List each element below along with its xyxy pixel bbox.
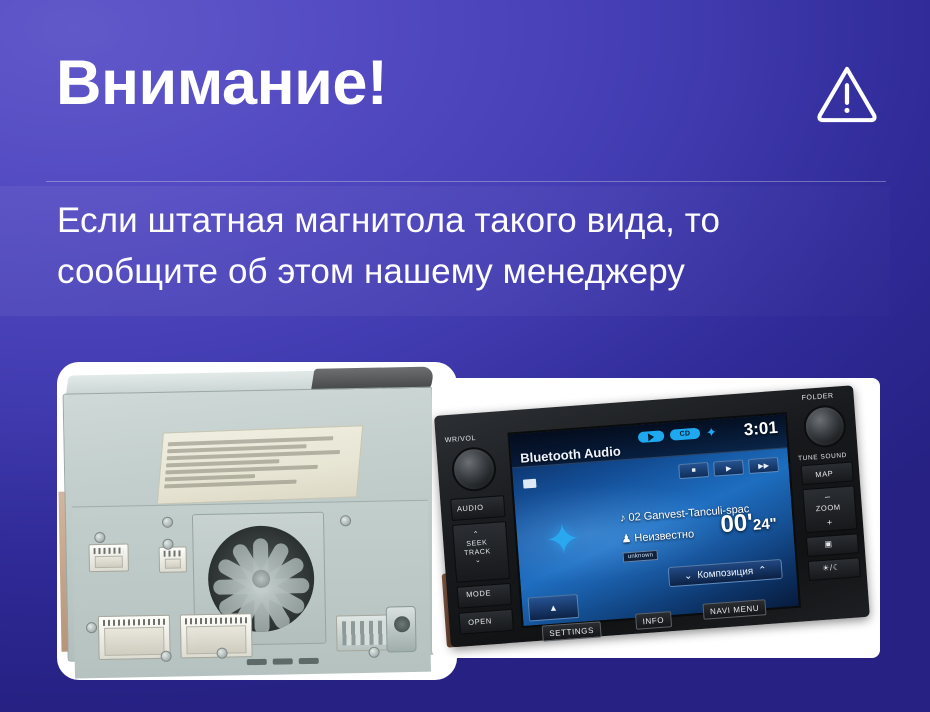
photo-row: WR/VOL AUDIO ⌃ SEEK TRACK ⌄ MODE — [0, 330, 930, 712]
vent-slot — [273, 658, 293, 664]
clock-time: 3:01 — [743, 418, 778, 440]
bluetooth-icon: ✦ — [705, 424, 717, 441]
zoom-minus-label: – — [825, 491, 831, 501]
chevron-up-icon: ⌃ — [758, 565, 767, 577]
composition-label: Композиция — [697, 566, 754, 581]
stop-button[interactable]: ■ — [678, 462, 709, 479]
warning-banner: Внимание! Если штатная магнитола такого … — [0, 0, 930, 712]
folder-icon — [523, 479, 537, 489]
vent-slot — [247, 659, 267, 665]
folder-label: FOLDER — [801, 393, 833, 402]
chevron-down-icon: ⌄ — [684, 570, 693, 582]
power-volume-knob[interactable] — [450, 446, 497, 493]
subtitle-text: Если штатная магнитола такого вида, то с… — [57, 196, 887, 298]
antenna-socket — [386, 606, 417, 653]
seek-track-label: ⌃ SEEK TRACK ⌄ — [463, 530, 492, 567]
connector-small-2 — [159, 546, 187, 573]
chassis-body — [63, 387, 438, 662]
head-unit-body: WR/VOL AUDIO ⌃ SEEK TRACK ⌄ MODE — [434, 385, 870, 647]
subtitle-line-2: сообщите об этом нашему менеджеру — [57, 247, 887, 298]
bluetooth-large-icon: ✦ — [544, 518, 582, 562]
elapsed-time: 00'24" — [720, 507, 778, 539]
play-button[interactable]: ▶ — [713, 459, 744, 476]
map-button-label: MAP — [815, 469, 834, 479]
navi-menu-button[interactable]: NAVI MENU — [702, 599, 766, 620]
left-control-column: WR/VOL AUDIO ⌃ SEEK TRACK ⌄ MODE — [441, 429, 519, 657]
mode-button-label: MODE — [466, 588, 491, 599]
elapsed-minutes: 00' — [720, 509, 754, 538]
vent-slot — [299, 658, 319, 664]
zoom-plus-label: + — [826, 517, 833, 527]
settings-button[interactable]: SETTINGS — [542, 621, 602, 641]
display-icon: ▣ — [824, 539, 833, 549]
elapsed-seconds: 24" — [752, 515, 777, 534]
status-badge: CD — [670, 428, 701, 441]
connector-small-1 — [88, 543, 129, 572]
brightness-icon: ☀/☾ — [822, 563, 841, 573]
head-unit-photo: WR/VOL AUDIO ⌃ SEEK TRACK ⌄ MODE — [432, 378, 880, 658]
next-button[interactable]: ▶▶ — [748, 457, 779, 474]
info-button[interactable]: INFO — [635, 611, 672, 630]
subtitle-line-1: Если штатная магнитола такого вида, то — [57, 196, 887, 247]
head-unit-screen[interactable]: CD ✦ 3:01 Bluetooth Audio ■ ▶ ▶▶ ✦ ♪ 02 … — [507, 412, 801, 628]
warning-triangle-icon — [816, 64, 878, 124]
tune-sound-label: TUNE SOUND — [798, 452, 847, 463]
radio-chassis-photo — [57, 362, 457, 680]
car-head-unit: WR/VOL AUDIO ⌃ SEEK TRACK ⌄ MODE — [433, 378, 879, 658]
play-icon — [638, 430, 665, 443]
header-divider — [46, 181, 886, 182]
folder-tune-knob[interactable] — [802, 404, 847, 449]
page-title: Внимание! — [56, 52, 387, 115]
power-volume-label: WR/VOL — [445, 435, 477, 444]
open-button-label: OPEN — [468, 616, 492, 627]
zoom-button-label: ZOOM — [815, 502, 840, 513]
chassis-spec-label — [157, 425, 363, 504]
banner-header: Внимание! — [0, 0, 930, 175]
radio-chassis — [62, 364, 450, 671]
connector-harness-1 — [98, 615, 171, 660]
